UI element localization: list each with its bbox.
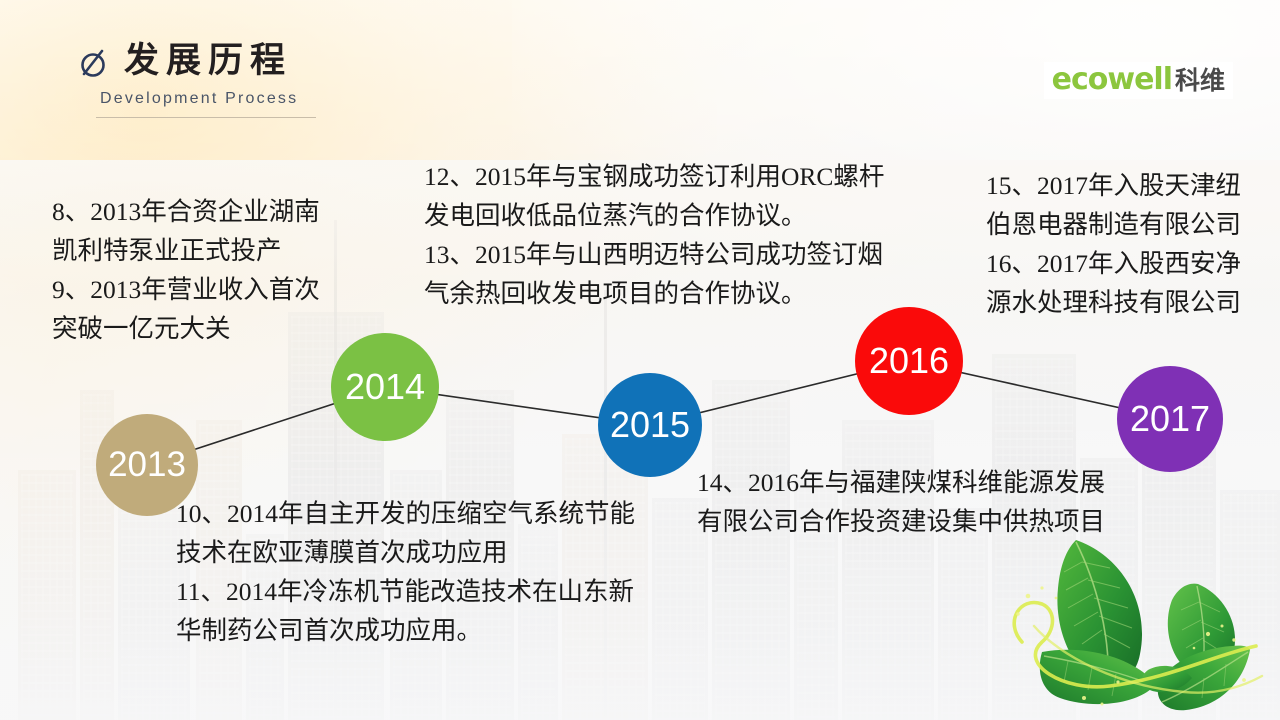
slashed-circle-icon <box>76 45 110 79</box>
brand-logo-chinese: 科维 <box>1175 68 1225 93</box>
brand-logo: ecowell 科维 <box>1044 62 1233 99</box>
text-line: 14、2016年与福建陕煤科维能源发展 <box>697 463 1105 502</box>
text-line: 10、2014年自主开发的压缩空气系统节能 <box>176 494 635 533</box>
page-header: 发展历程 Development Process <box>76 44 316 118</box>
text-line: 伯恩电器制造有限公司 <box>986 205 1241 244</box>
slide-canvas: 发展历程 Development Process ecowell 科维 2013… <box>0 0 1280 720</box>
page-title: 发展历程 <box>124 44 292 79</box>
text-block-left-top: 8、2013年合资企业湖南凯利特泵业正式投产9、2013年营业收入首次突破一亿元… <box>52 192 320 348</box>
brand-logo-latin: ecowell <box>1052 65 1172 95</box>
timeline-node-label: 2013 <box>108 445 186 485</box>
timeline-node-2014[interactable]: 2014 <box>331 333 439 441</box>
timeline-node-2017[interactable]: 2017 <box>1117 366 1223 472</box>
text-line: 16、2017年入股西安净 <box>986 244 1241 283</box>
green-leaves-icon <box>998 530 1270 720</box>
text-line: 13、2015年与山西明迈特公司成功签订烟 <box>424 235 884 274</box>
text-line: 发电回收低品位蒸汽的合作协议。 <box>424 196 884 235</box>
text-line: 突破一亿元大关 <box>52 309 320 348</box>
text-line: 11、2014年冷冻机节能改造技术在山东新 <box>176 572 635 611</box>
text-line: 气余热回收发电项目的合作协议。 <box>424 274 884 313</box>
text-line: 15、2017年入股天津纽 <box>986 166 1241 205</box>
text-line: 9、2013年营业收入首次 <box>52 270 320 309</box>
timeline-node-label: 2017 <box>1130 398 1210 440</box>
timeline-node-2015[interactable]: 2015 <box>598 373 702 477</box>
text-block-center-top: 12、2015年与宝钢成功签订利用ORC螺杆发电回收低品位蒸汽的合作协议。13、… <box>424 157 884 313</box>
text-line: 8、2013年合资企业湖南 <box>52 192 320 231</box>
text-line: 华制药公司首次成功应用。 <box>176 611 635 650</box>
timeline-node-2016[interactable]: 2016 <box>855 307 963 415</box>
timeline-node-label: 2015 <box>610 404 690 446</box>
page-subtitle: Development Process <box>100 90 316 108</box>
text-line: 源水处理科技有限公司 <box>986 283 1241 322</box>
timeline-node-label: 2016 <box>869 340 949 382</box>
header-divider <box>96 117 316 118</box>
text-block-left-bottom: 10、2014年自主开发的压缩空气系统节能技术在欧亚薄膜首次成功应用11、201… <box>176 494 635 650</box>
text-line: 12、2015年与宝钢成功签订利用ORC螺杆 <box>424 157 884 196</box>
text-block-right-top: 15、2017年入股天津纽伯恩电器制造有限公司16、2017年入股西安净源水处理… <box>986 166 1241 322</box>
text-line: 技术在欧亚薄膜首次成功应用 <box>176 533 635 572</box>
text-line: 凯利特泵业正式投产 <box>52 231 320 270</box>
timeline-node-label: 2014 <box>345 366 425 408</box>
